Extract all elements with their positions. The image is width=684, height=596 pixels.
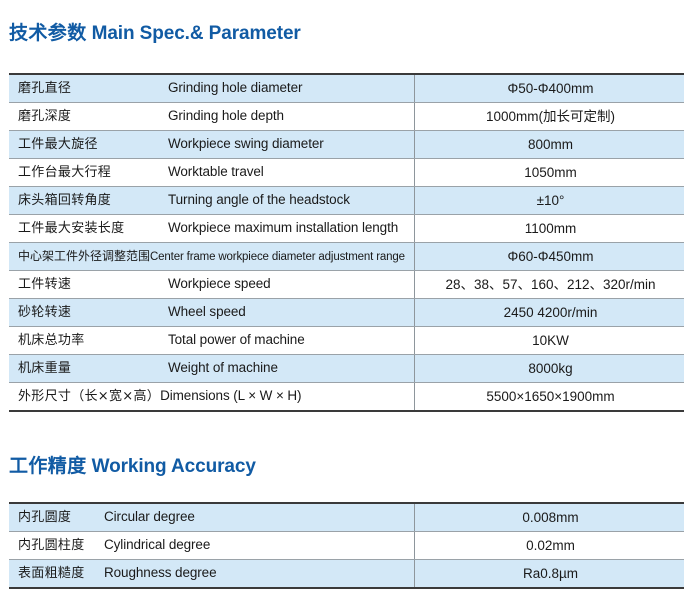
row-label-en: Center frame workpiece diameter adjustme…: [150, 251, 405, 263]
row-label-cn: 工作台最大行程: [18, 165, 111, 180]
row-label-en: Cylindrical degree: [104, 532, 210, 558]
table-row: 工作台最大行程Worktable travel 1050mm: [9, 159, 684, 187]
table-row: 砂轮转速Wheel speed 2450 4200r/min: [9, 299, 684, 327]
row-label-cn: 工件最大旋径: [18, 137, 98, 152]
row-value: Φ50-Φ400mm: [415, 74, 684, 103]
row-value: 1050mm: [415, 159, 684, 187]
table-row: 机床重量Weight of machine 8000kg: [9, 355, 684, 383]
row-value: 10KW: [415, 327, 684, 355]
row-label-cell: 内孔圆柱度Cylindrical degree: [9, 532, 415, 560]
row-value: 2450 4200r/min: [415, 299, 684, 327]
row-value: 8000kg: [415, 355, 684, 383]
row-value: 28、38、57、160、212、320r/min: [415, 271, 684, 299]
row-value: Φ60-Φ450mm: [415, 243, 684, 271]
row-label-cn: 磨孔直径: [18, 81, 71, 96]
table-row: 机床总功率Total power of machine 10KW: [9, 327, 684, 355]
row-label-en: Workpiece swing diameter: [168, 131, 324, 157]
row-label-cell: 工作台最大行程Worktable travel: [9, 159, 415, 187]
row-value: 1100mm: [415, 215, 684, 243]
row-label-cell: 工件转速Workpiece speed: [9, 271, 415, 299]
row-label-cell: 内孔圆度Circular degree: [9, 503, 415, 532]
row-value: 1000mm(加长可定制): [415, 103, 684, 131]
row-label-en: Grinding hole depth: [168, 103, 284, 129]
row-label-cell: 磨孔深度Grinding hole depth: [9, 103, 415, 131]
row-label-cell: 机床重量Weight of machine: [9, 355, 415, 383]
row-label-en: Turning angle of the headstock: [168, 187, 350, 213]
row-label-en: Workpiece speed: [168, 271, 271, 297]
row-label-cn: 机床重量: [18, 361, 71, 376]
table-row: 内孔圆柱度Cylindrical degree 0.02mm: [9, 532, 684, 560]
working-accuracy-table: 内孔圆度Circular degree 0.008mm 内孔圆柱度Cylindr…: [9, 502, 684, 589]
table-row: 磨孔直径Grinding hole diameter Φ50-Φ400mm: [9, 74, 684, 103]
page-title-working-accuracy: 工作精度Working Accuracy: [9, 457, 256, 476]
row-label-cell: 中心架工件外径调整范围Center frame workpiece diamet…: [9, 243, 415, 271]
table-row: 工件转速Workpiece speed 28、38、57、160、212、320…: [9, 271, 684, 299]
row-label-en: Workpiece maximum installation length: [168, 215, 398, 241]
row-label-en: Weight of machine: [168, 355, 278, 381]
row-label-cn: 砂轮转速: [18, 305, 71, 320]
table-row: 内孔圆度Circular degree 0.008mm: [9, 503, 684, 532]
table-row: 中心架工件外径调整范围Center frame workpiece diamet…: [9, 243, 684, 271]
row-label-en: Worktable travel: [168, 159, 264, 185]
row-label-cn: 机床总功率: [18, 333, 85, 348]
row-label-cn: 中心架工件外径调整范围: [18, 249, 150, 263]
row-label-en: Total power of machine: [168, 327, 305, 353]
row-label-en: Grinding hole diameter: [168, 75, 302, 101]
row-label-cell: 外形尺寸（长×宽×高）Dimensions (L × W × H): [9, 383, 415, 412]
row-label-cn: 表面粗糙度: [18, 566, 85, 581]
row-label-cn: 内孔圆柱度: [18, 538, 85, 553]
row-label-en: Wheel speed: [168, 299, 246, 325]
row-label-cell: 磨孔直径Grinding hole diameter: [9, 74, 415, 103]
row-value: Ra0.8µm: [415, 560, 684, 589]
row-label-cell: 工件最大旋径Workpiece swing diameter: [9, 131, 415, 159]
table-row: 外形尺寸（长×宽×高）Dimensions (L × W × H) 5500×1…: [9, 383, 684, 412]
row-value: 0.02mm: [415, 532, 684, 560]
table-row: 表面粗糙度Roughness degree Ra0.8µm: [9, 560, 684, 589]
row-label-en: Circular degree: [104, 504, 195, 530]
row-value: ±10°: [415, 187, 684, 215]
row-label-cn: 外形尺寸（长×宽×高）: [18, 389, 160, 404]
page-title-en: Main Spec.& Parameter: [92, 23, 301, 44]
table-row: 工件最大安装长度Workpiece maximum installation l…: [9, 215, 684, 243]
row-label-cell: 砂轮转速Wheel speed: [9, 299, 415, 327]
page-title-cn: 工作精度: [9, 455, 87, 477]
row-label-en: Dimensions (L × W × H): [160, 388, 301, 403]
row-label-cn: 工件最大安装长度: [18, 221, 124, 236]
row-value: 5500×1650×1900mm: [415, 383, 684, 412]
table-row: 工件最大旋径Workpiece swing diameter 800mm: [9, 131, 684, 159]
page-title-main-spec: 技术参数Main Spec.& Parameter: [9, 24, 301, 43]
page-title-cn: 技术参数: [9, 22, 87, 44]
row-label-cell: 表面粗糙度Roughness degree: [9, 560, 415, 589]
row-value: 0.008mm: [415, 503, 684, 532]
row-label-cn: 床头箱回转角度: [18, 193, 111, 208]
row-value: 800mm: [415, 131, 684, 159]
row-label-cn: 磨孔深度: [18, 109, 71, 124]
main-spec-table: 磨孔直径Grinding hole diameter Φ50-Φ400mm 磨孔…: [9, 73, 684, 412]
row-label-en: Roughness degree: [104, 560, 216, 586]
table-row: 磨孔深度Grinding hole depth 1000mm(加长可定制): [9, 103, 684, 131]
table-row: 床头箱回转角度Turning angle of the headstock ±1…: [9, 187, 684, 215]
row-label-cn: 工件转速: [18, 277, 71, 292]
spec-sheet-page: 技术参数Main Spec.& Parameter 磨孔直径Grinding h…: [0, 0, 684, 596]
row-label-cell: 机床总功率Total power of machine: [9, 327, 415, 355]
row-label-cn: 内孔圆度: [18, 510, 71, 525]
page-title-en: Working Accuracy: [92, 456, 256, 477]
row-label-cell: 工件最大安装长度Workpiece maximum installation l…: [9, 215, 415, 243]
row-label-cell: 床头箱回转角度Turning angle of the headstock: [9, 187, 415, 215]
